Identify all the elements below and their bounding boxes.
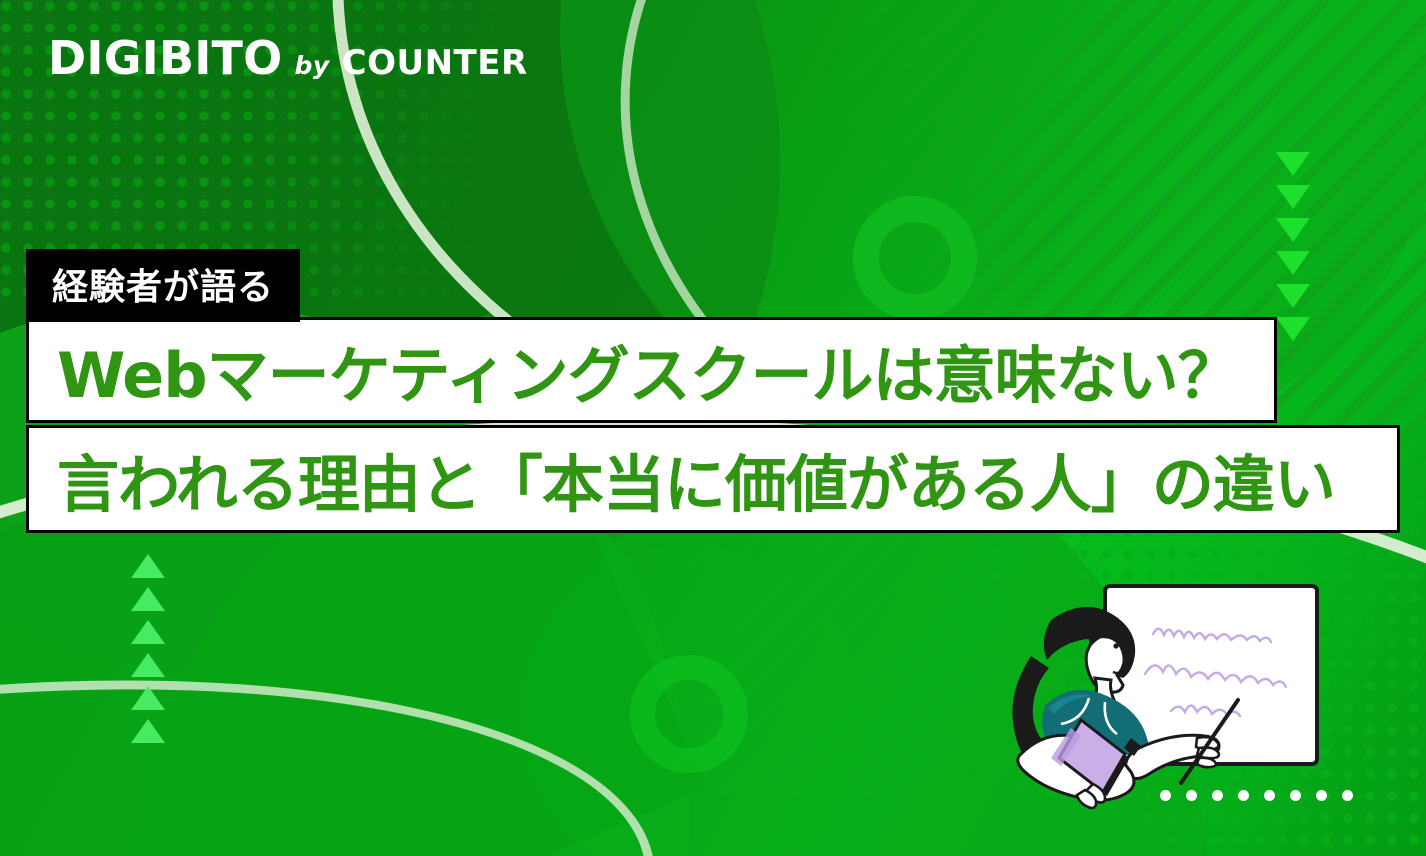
triangle-down-icon — [1276, 218, 1310, 242]
dot — [1238, 790, 1249, 801]
dot — [1290, 790, 1301, 801]
triangle-down-icon — [1276, 284, 1310, 308]
triangle-up-icon — [131, 719, 165, 743]
brand-logo[interactable]: DIGIBITO by COUNTER — [48, 31, 528, 85]
dot — [1264, 790, 1275, 801]
triangle-down-icon — [1276, 185, 1310, 209]
triangle-marker-column-left — [131, 554, 165, 752]
white-dot-row — [1160, 790, 1360, 802]
triangle-up-icon — [131, 587, 165, 611]
hero-banner: DIGIBITO by COUNTER 経験者が語る Webマーケティングスクー… — [0, 0, 1426, 856]
logo-by-text: by — [294, 51, 329, 80]
eyebrow-badge: 経験者が語る — [26, 249, 300, 322]
logo-wordmark-counter: COUNTER — [342, 43, 528, 83]
triangle-down-icon — [1276, 152, 1310, 176]
dot — [1316, 790, 1327, 801]
triangle-marker-column-right — [1276, 152, 1310, 350]
triangle-up-icon — [131, 620, 165, 644]
headline-line-1: Webマーケティングスクールは意味ない？ — [26, 317, 1277, 423]
triangle-up-icon — [131, 653, 165, 677]
logo-wordmark-digibito: DIGIBITO — [48, 31, 282, 85]
dot — [1342, 790, 1353, 801]
triangle-up-icon — [131, 686, 165, 710]
triangle-down-icon — [1276, 251, 1310, 275]
dot — [1186, 790, 1197, 801]
eye — [1113, 643, 1118, 648]
dot — [1212, 790, 1223, 801]
headline-line-2: 言われる理由と「本当に価値がある人」の違い — [26, 425, 1400, 533]
triangle-down-icon — [1276, 317, 1310, 341]
dot — [1160, 790, 1171, 801]
triangle-up-icon — [131, 554, 165, 578]
